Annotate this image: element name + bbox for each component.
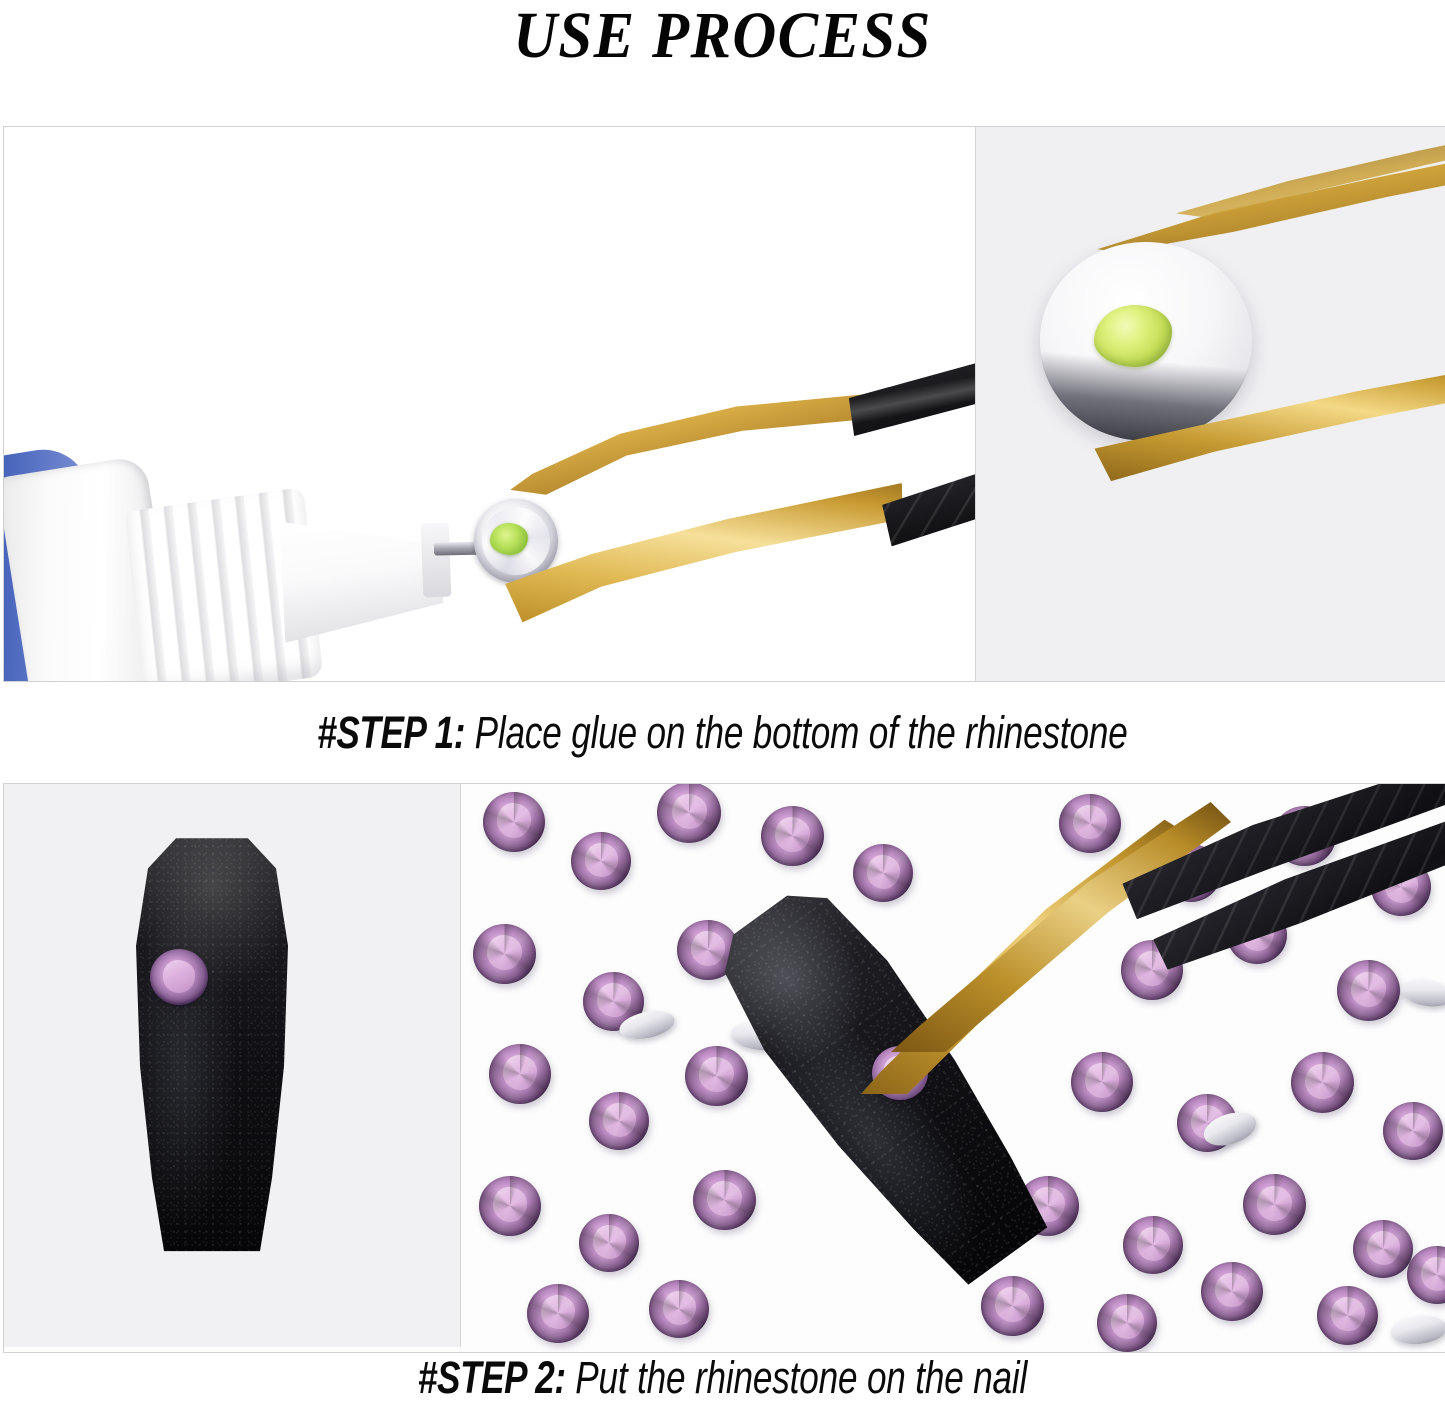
page-header: USE PROCESS <box>0 0 1445 126</box>
tweezer-lower-gold-tip <box>502 465 907 629</box>
applied-rhinestone <box>150 949 208 1005</box>
step-1-caption: #STEP 1: Place glue on the bottom of the… <box>0 682 1445 783</box>
step-2-label: #STEP 2: <box>418 1352 566 1403</box>
rhinestone-flat-back <box>1399 976 1445 1011</box>
step-2-photo-row <box>3 783 1445 1353</box>
placing-rhinestone-photo <box>461 784 1445 1352</box>
tweezer-upper-handle <box>848 327 976 450</box>
nail-texture-overlay <box>112 834 312 1264</box>
step-1-photo-row <box>3 126 1445 682</box>
page-title: USE PROCESS <box>513 2 931 69</box>
step-1-text: Place glue on the bottom of the rhinesto… <box>465 707 1128 758</box>
finished-nail-photo <box>4 784 461 1347</box>
rhinestone-flat-back <box>1390 1313 1445 1347</box>
glue-bottle-collar <box>421 523 452 598</box>
glue-closeup-photo <box>976 127 1445 681</box>
step-1-label: #STEP 1: <box>317 707 465 758</box>
step-2-text: Put the rhinestone on the nail <box>566 1352 1028 1403</box>
step-2-caption: #STEP 2: Put the rhinestone on the nail <box>0 1353 1445 1413</box>
tweezer-upper-gold-tip <box>510 375 874 507</box>
glue-application-photo <box>4 127 976 681</box>
glue-droplet <box>490 523 528 555</box>
